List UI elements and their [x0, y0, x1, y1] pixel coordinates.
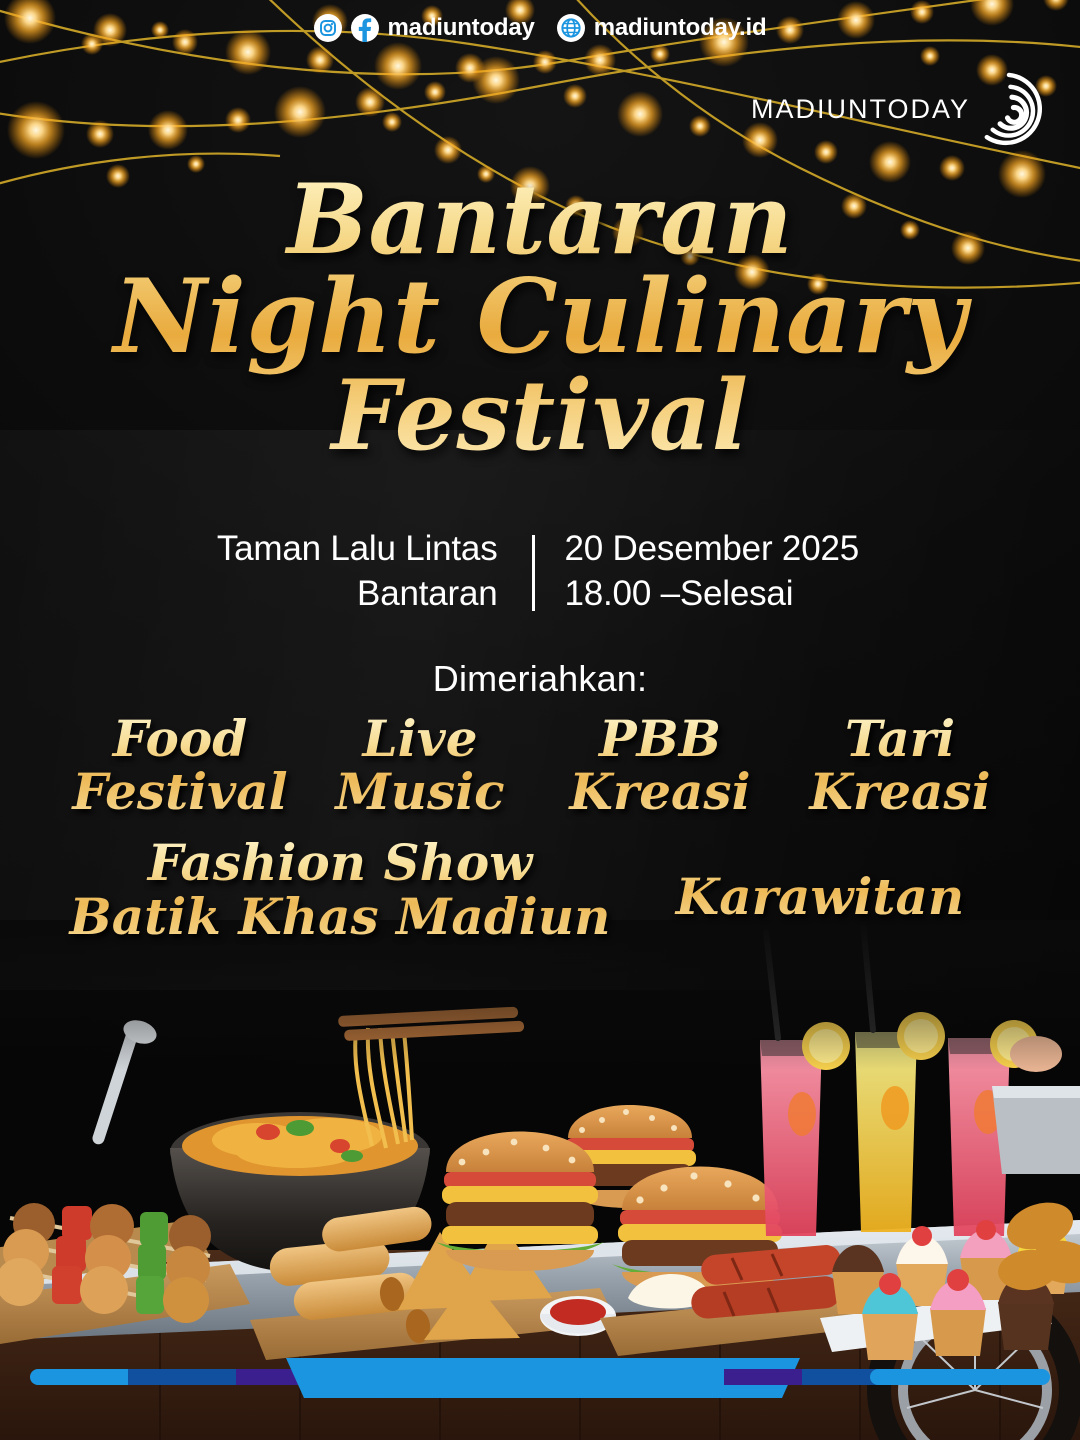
title-line-1: Bantaran	[0, 172, 1080, 267]
lineup-item-line-2: Kreasi	[780, 765, 1020, 818]
swirl-arcs-icon	[972, 72, 1046, 146]
lineup-item-karawitan: Karawitan	[620, 836, 1020, 924]
lineup-item-tari-kreasi: Tari Kreasi	[780, 712, 1020, 818]
website-group[interactable]: madiuntoday.id	[557, 14, 767, 42]
lineup-item-live-music: Live Music	[300, 712, 540, 818]
footer-social-bar	[0, 1352, 1080, 1412]
facebook-icon[interactable]	[351, 14, 379, 42]
venue-line-1: Taman Lalu Lintas	[216, 527, 498, 572]
social-group[interactable]: madiuntoday	[314, 14, 535, 42]
lineup-item-line-2: Festival	[60, 765, 300, 818]
globe-icon[interactable]	[557, 14, 585, 42]
lineup-item-line-1: Live	[300, 712, 540, 765]
lineup-row-1: Food Festival Live Music PBB Kreasi Tari…	[60, 712, 1020, 818]
event-details: Taman Lalu Lintas Bantaran 20 Desember 2…	[0, 527, 1080, 617]
lineup-item-line-1: Food	[60, 712, 300, 765]
lineup-item-pbb-kreasi: PBB Kreasi	[540, 712, 780, 818]
website-text[interactable]: madiuntoday.id	[594, 14, 767, 42]
title-line-3: Festival	[0, 368, 1080, 463]
poster-title: Bantaran Night Culinary Festival	[0, 172, 1080, 463]
lineup-item-food-festival: Food Festival	[60, 712, 300, 818]
title-line-2: Night Culinary	[0, 267, 1080, 368]
datetime-block: 20 Desember 2025 18.00 –Selesai	[535, 527, 865, 617]
lineup-item-fashion-show: Fashion Show Batik Khas Madiun	[60, 836, 620, 944]
lineup-item-line-1: Fashion Show	[60, 836, 620, 890]
brand-logo-text: MADIUNTODAY	[751, 94, 970, 125]
venue-block: Taman Lalu Lintas Bantaran	[216, 527, 532, 617]
lineup-item-line-2: Music	[300, 765, 540, 818]
footer-content: madiuntoday madiuntoday.id	[0, 8, 1080, 48]
lineup-heading: Dimeriahkan:	[0, 658, 1080, 700]
lineup-item-line-2: Batik Khas Madiun	[60, 890, 620, 944]
lineup-item-line-2: Kreasi	[540, 765, 780, 818]
lineup-row-2: Fashion Show Batik Khas Madiun Karawitan	[60, 836, 1020, 944]
lineup-item-line-1: Tari	[780, 712, 1020, 765]
event-time: 18.00 –Selesai	[565, 572, 865, 617]
social-handle-text[interactable]: madiuntoday	[388, 14, 535, 42]
venue-line-2: Bantaran	[216, 572, 498, 617]
event-poster: MADIUNTODAY Bantaran Night Culinary Fest…	[0, 0, 1080, 1440]
lineup-item-line-1: Karawitan	[676, 867, 964, 926]
brand-logo: MADIUNTODAY	[751, 72, 1046, 146]
lineup-item-line-1: PBB	[540, 712, 780, 765]
event-date: 20 Desember 2025	[565, 527, 865, 572]
instagram-icon[interactable]	[314, 14, 342, 42]
